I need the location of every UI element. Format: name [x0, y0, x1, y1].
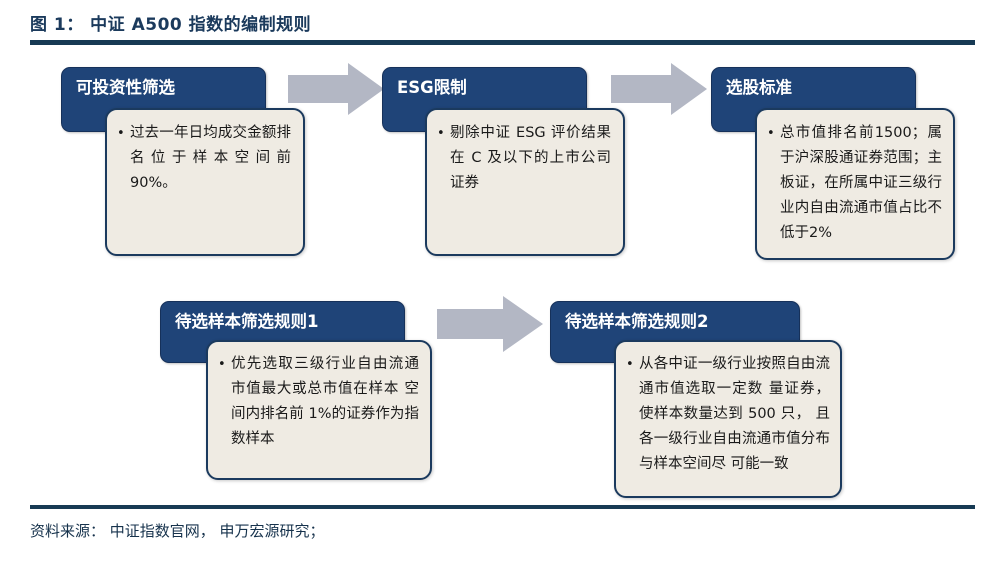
list-item: 优先选取三级行业自由流通市值最大或总市值在样本 空间内排名前 1%的证券作为指数… [216, 352, 419, 452]
arrow-1-to-2 [288, 63, 384, 115]
page-title: 图 1： 中证 A500 指数的编制规则 [30, 12, 975, 38]
node-body-stock-selection-criteria: 总市值排名前1500；属于沪深股通证券范围；主板证，在所属中证三级行业内自由流通… [755, 108, 955, 260]
arrow-2-to-3 [611, 63, 707, 115]
list-item: 剔除中证 ESG 评价结果在 C 及以下的上市公司证券 [435, 121, 611, 196]
node-title: 可投资性筛选 [76, 78, 175, 97]
list-item: 从各中证一级行业按照自由流通市值选取一定数 量证券，使样本数量达到 500 只，… [624, 352, 830, 477]
node-title: 待选样本筛选规则2 [565, 312, 708, 331]
node-body-candidate-rule-1: 优先选取三级行业自由流通市值最大或总市值在样本 空间内排名前 1%的证券作为指数… [206, 340, 432, 480]
flowchart-diagram: 可投资性筛选 过去一年日均成交金额排名位于样本空间前90%。 ESG限制 剔除中… [0, 45, 1003, 500]
figure-source: 资料来源： 中证指数官网， 申万宏源研究； [30, 519, 325, 543]
node-title: ESG限制 [397, 78, 467, 97]
arrow-4-to-5 [437, 296, 543, 352]
list-item: 过去一年日均成交金额排名位于样本空间前90%。 [115, 121, 291, 196]
node-body-esg-restriction: 剔除中证 ESG 评价结果在 C 及以下的上市公司证券 [425, 108, 625, 256]
footer-divider [30, 505, 975, 509]
node-body-investability-screen: 过去一年日均成交金额排名位于样本空间前90%。 [105, 108, 305, 256]
node-body-candidate-rule-2: 从各中证一级行业按照自由流通市值选取一定数 量证券，使样本数量达到 500 只，… [614, 340, 842, 498]
node-title: 待选样本筛选规则1 [175, 312, 318, 331]
list-item: 总市值排名前1500；属于沪深股通证券范围；主板证，在所属中证三级行业内自由流通… [765, 121, 942, 246]
node-title: 选股标准 [726, 78, 792, 97]
figure-header: 图 1： 中证 A500 指数的编制规则 [30, 12, 975, 38]
